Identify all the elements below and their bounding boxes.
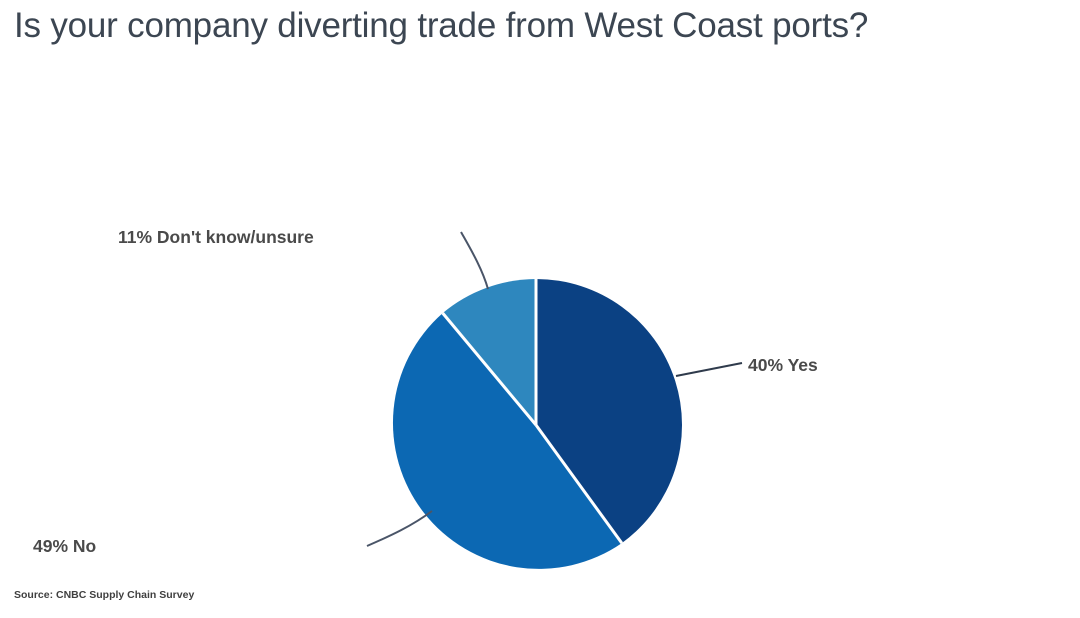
leader-line-yes bbox=[676, 363, 742, 376]
leader-line-unsure bbox=[461, 232, 488, 289]
leader-line-no bbox=[367, 511, 432, 546]
pie-chart: 11% Don't know/unsure 40% Yes 49% No bbox=[0, 0, 1080, 618]
pie-chart-svg bbox=[0, 0, 1080, 618]
pie-label-yes: 40% Yes bbox=[748, 355, 818, 376]
source-note: Source: CNBC Supply Chain Survey bbox=[14, 589, 194, 601]
pie-label-unsure: 11% Don't know/unsure bbox=[118, 227, 314, 248]
pie-label-no: 49% No bbox=[33, 536, 96, 557]
slide-canvas: Is your company diverting trade from Wes… bbox=[0, 0, 1080, 618]
